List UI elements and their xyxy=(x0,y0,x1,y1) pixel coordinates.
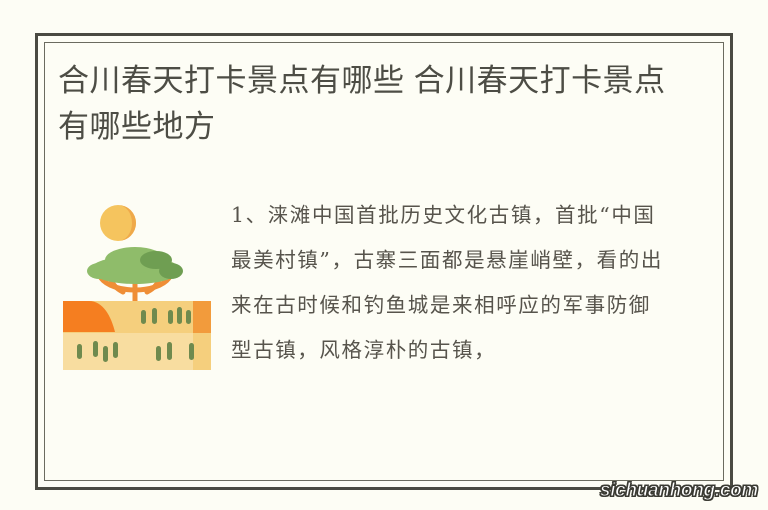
article-content: 合川春天打卡景点有哪些 合川春天打卡景点有哪些地方 xyxy=(38,36,730,487)
article-body-text: 1、涞滩中国首批历史文化古镇，首批“中国最美村镇”，古寨三面都是悬崖峭壁，看的出… xyxy=(231,193,663,373)
page-title: 合川春天打卡景点有哪些 合川春天打卡景点有哪些地方 xyxy=(58,58,668,150)
savanna-acacia-illustration xyxy=(63,198,211,370)
acacia-canopy xyxy=(87,247,183,284)
article-card-frame: 合川春天打卡景点有哪些 合川春天打卡景点有哪些地方 xyxy=(35,33,733,490)
article-body-row: 1、涞滩中国首批历史文化古镇，首批“中国最美村镇”，古寨三面都是悬崖峭壁，看的出… xyxy=(38,188,730,487)
site-watermark: sichuanhong.com xyxy=(600,480,758,502)
sun-icon xyxy=(100,205,136,241)
